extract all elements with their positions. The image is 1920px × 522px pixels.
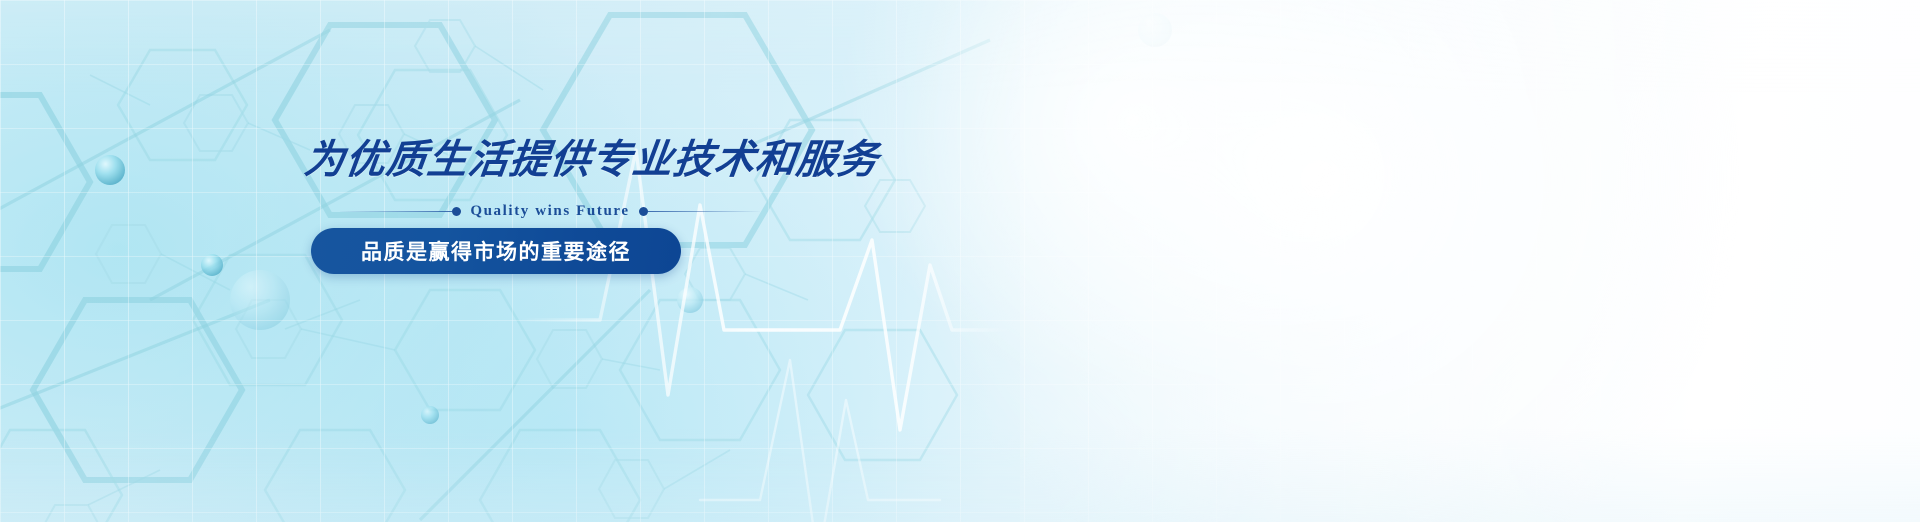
banner-vignette [0,0,1920,522]
hero-banner: 为优质生活提供专业技术和服务 Quality wins Future 品质是赢得… [0,0,1920,522]
